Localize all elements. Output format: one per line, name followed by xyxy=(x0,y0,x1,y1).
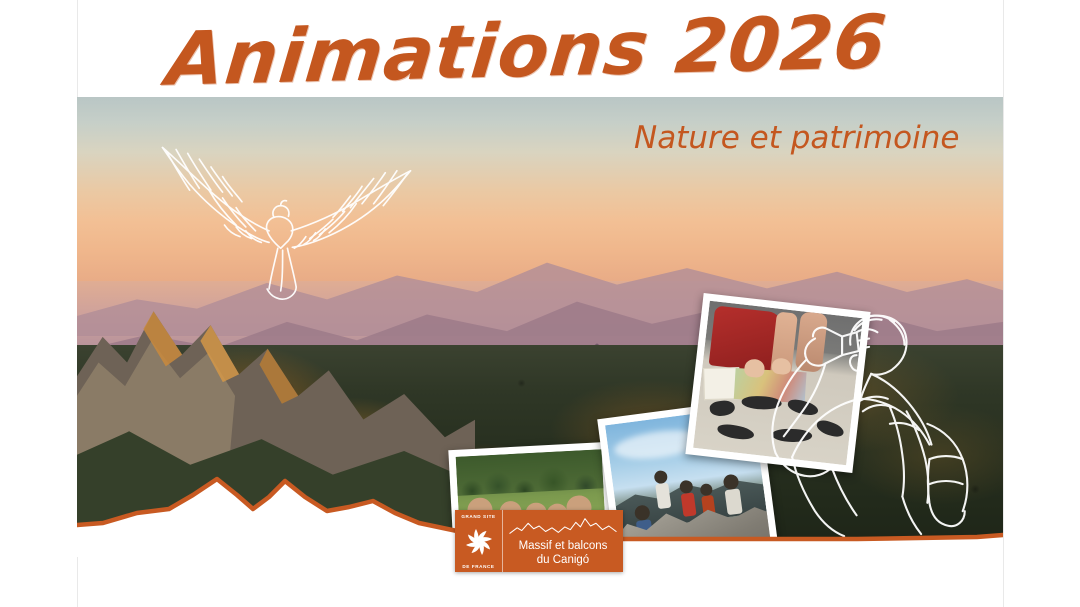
logo-name-line-1: Massif et balcons xyxy=(519,540,608,553)
photo-birds-image xyxy=(693,301,863,465)
sunlit-rock-crag xyxy=(77,272,475,557)
logo-label-top: GRAND SITE xyxy=(461,514,495,519)
photo-birds[interactable] xyxy=(685,293,870,473)
mountain-skyline-icon xyxy=(506,515,620,537)
logo-name-line-2: du Canigó xyxy=(519,554,608,567)
page-subtitle: Nature et patrimoine xyxy=(634,120,959,156)
pinwheel-emblem-icon xyxy=(464,527,494,557)
logo-name-block: Massif et balcons du Canigó xyxy=(503,510,623,572)
logo-label-bottom: DE FRANCE xyxy=(462,564,494,569)
page-title: Animations 2026 xyxy=(164,7,890,95)
hero-photo xyxy=(77,97,1003,557)
grand-site-de-france-badge: GRAND SITE DE FRANCE xyxy=(455,510,503,572)
page-guide-right xyxy=(1003,0,1004,607)
poster-slide: Animations 2026 Nature et patrimoine GRA… xyxy=(0,0,1080,607)
logo-grand-site-canigo[interactable]: GRAND SITE DE FRANCE xyxy=(455,510,623,572)
